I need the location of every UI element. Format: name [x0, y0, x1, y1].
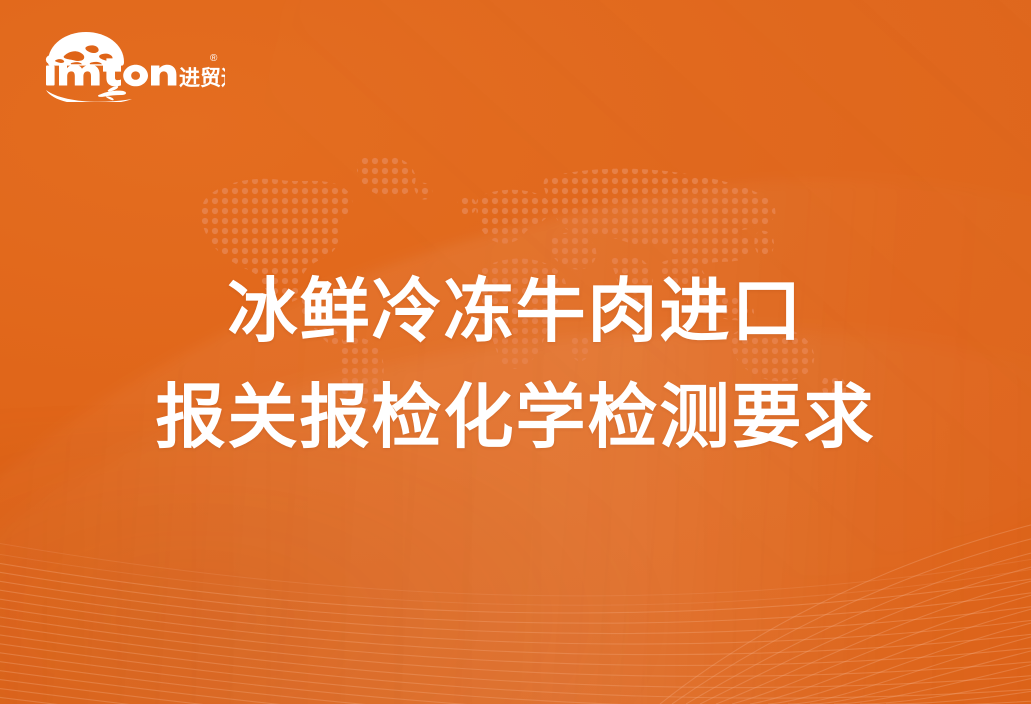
airplane-icon	[98, 86, 126, 100]
logo-chinese-name: 进贸通	[179, 67, 225, 90]
swoosh-icon	[46, 86, 132, 102]
registered-trademark-icon: ®	[210, 53, 218, 64]
page-title-line-2: 报关报检化学检测要求	[0, 364, 1031, 470]
page-title: 冰鲜冷冻牛肉进口 报关报检化学检测要求	[0, 258, 1031, 470]
poster-canvas: 进贸通 ® 冰鲜冷冻牛肉进口 报关报检化学检测要求	[0, 0, 1031, 704]
page-title-line-1: 冰鲜冷冻牛肉进口	[0, 258, 1031, 364]
imton-logo[interactable]: 进贸通 ®	[40, 28, 225, 102]
